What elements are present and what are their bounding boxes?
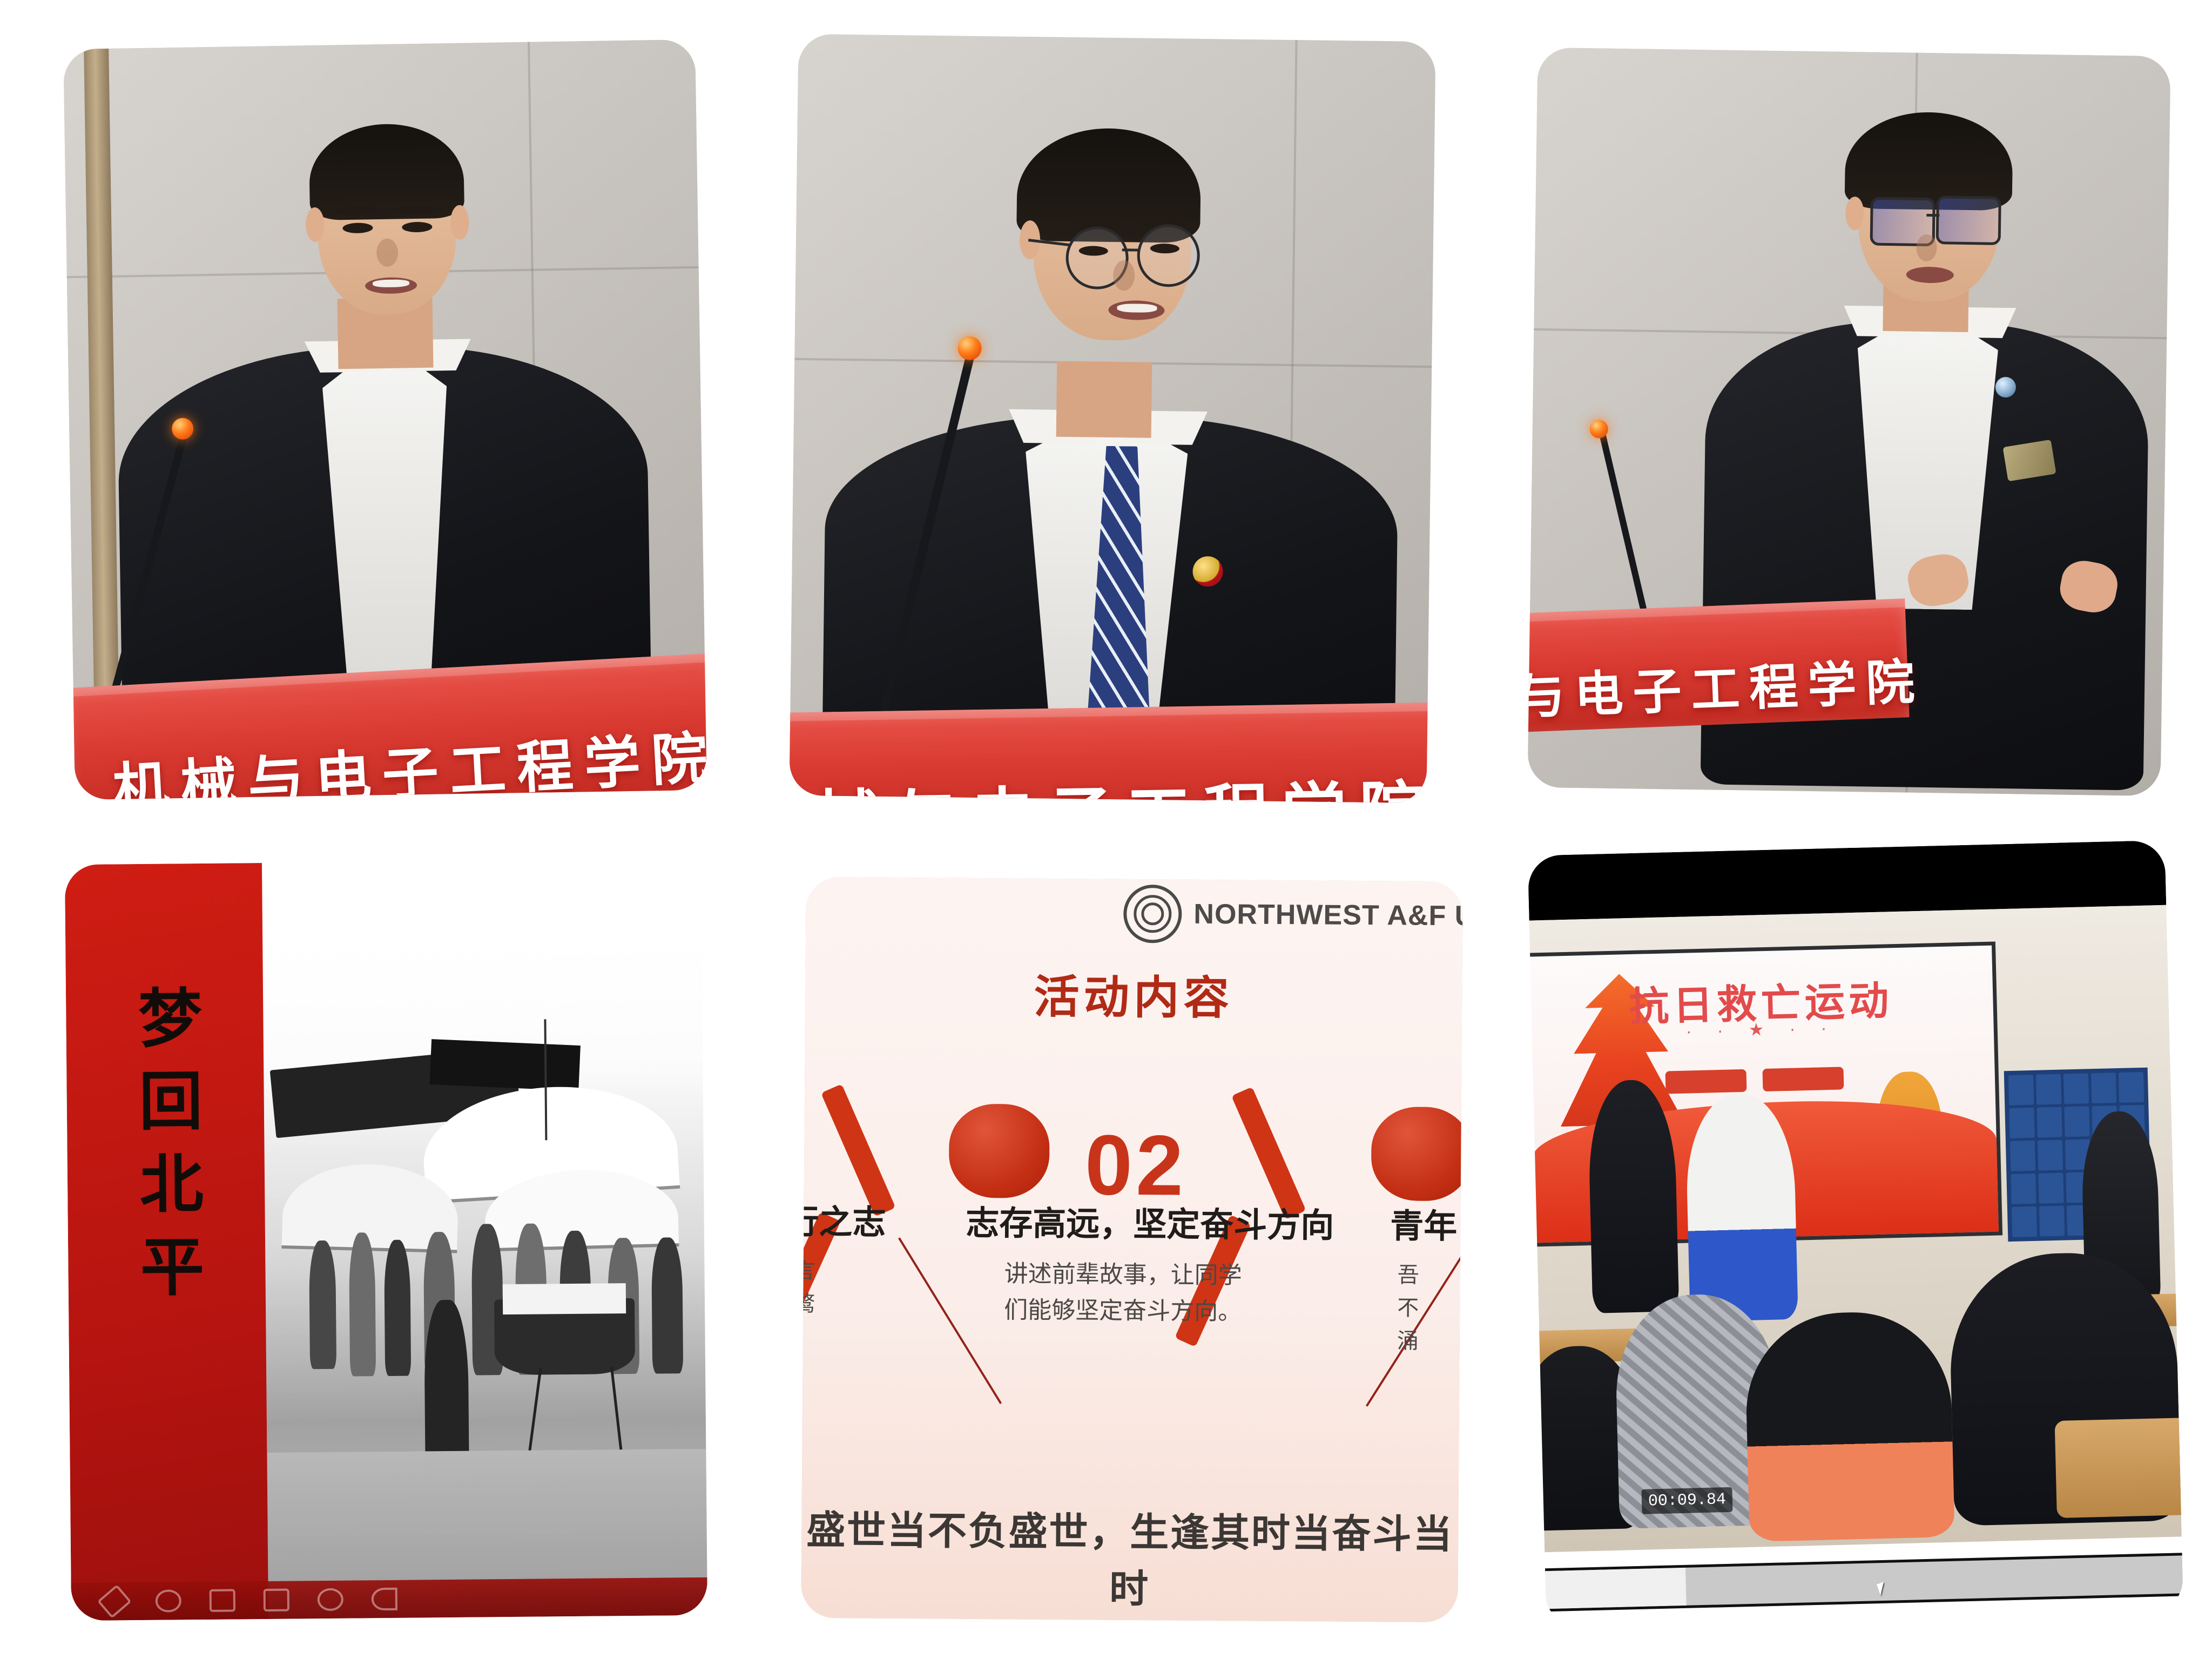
slide-item-body: 吾不涌 [1397,1259,1462,1358]
presentation-toolbar[interactable] [71,1577,708,1621]
podium: 与电子工程学院 [1527,598,1909,732]
podium: 机械与电子工程学院 [789,702,1435,803]
laser-pointer-icon[interactable] [156,1589,181,1612]
slide-item-dot [949,1104,1050,1198]
panel-2-photo-card[interactable]: 机械与电子工程学院 [789,34,1435,803]
screen-chip [1665,1069,1747,1094]
nwafu-wheat-emblem-icon [1123,885,1182,943]
panel-4-slide-card[interactable]: 梦回北平 [65,859,707,1621]
panel-5-slide-card[interactable]: NORTHWEST A&F UNIV 活动内容 行之志 言鹜 02 志存高远，坚… [801,877,1463,1622]
slide-item-title: 行之志 [801,1195,886,1244]
slide-item-title: 志存高远，坚定奋斗方向 [966,1196,1334,1247]
slide-item-body: 讲述前辈故事，让同学们能够坚定奋斗方向。 [1004,1256,1247,1330]
pen-icon[interactable] [97,1584,132,1618]
panel-1-photo-card[interactable]: 机械与电子工程学院 [63,39,707,800]
slide-title-band: 梦回北平 [65,863,268,1621]
slide-item-title: 青年 [1390,1198,1458,1247]
podium-banner-text: 与电子工程学院 [1527,642,1925,728]
university-logo-block: NORTHWEST A&F UNIV [1123,885,1463,946]
more-icon[interactable] [318,1588,343,1611]
video-timestamp: 00:09.84 [1641,1487,1732,1514]
photo-collage: 机械与电子工程学院 [0,0,2212,1659]
back-icon[interactable] [372,1588,397,1610]
historical-street-photo [262,859,707,1619]
playback-progress [1545,1568,1686,1609]
podium-banner-text: 机械与电子工程学院 [789,759,1435,803]
video-playback-bar[interactable] [1545,1553,2183,1611]
university-name: NORTHWEST A&F UNIV [1193,898,1463,933]
slide-title-vertical: 梦回北平 [118,984,213,1317]
podium-banner-text: 机械与电子工程学院 [111,711,707,800]
student-seated [1744,1310,1955,1542]
slide-caption: 盛世当不负盛世，生逢其时当奋斗当时 [801,1498,1458,1616]
slide-item-dot [1371,1107,1463,1201]
panel-3-photo-card[interactable]: 与电子工程学院 [1527,48,2170,796]
slide-item-body: 言鹜 [801,1255,820,1321]
slide-list-icon[interactable] [264,1589,289,1611]
screen-chip [1762,1067,1844,1091]
screen-icon[interactable] [210,1589,235,1611]
slide-title: 活动内容 [805,959,1462,1029]
speaker-figure [789,34,1435,803]
lecture-hall-scene: 抗日救亡运动 · · ★ · · [1529,905,2182,1552]
panel-6-video-card[interactable]: 抗日救亡运动 · · ★ · · [1528,840,2184,1628]
chair-back [2055,1418,2184,1518]
